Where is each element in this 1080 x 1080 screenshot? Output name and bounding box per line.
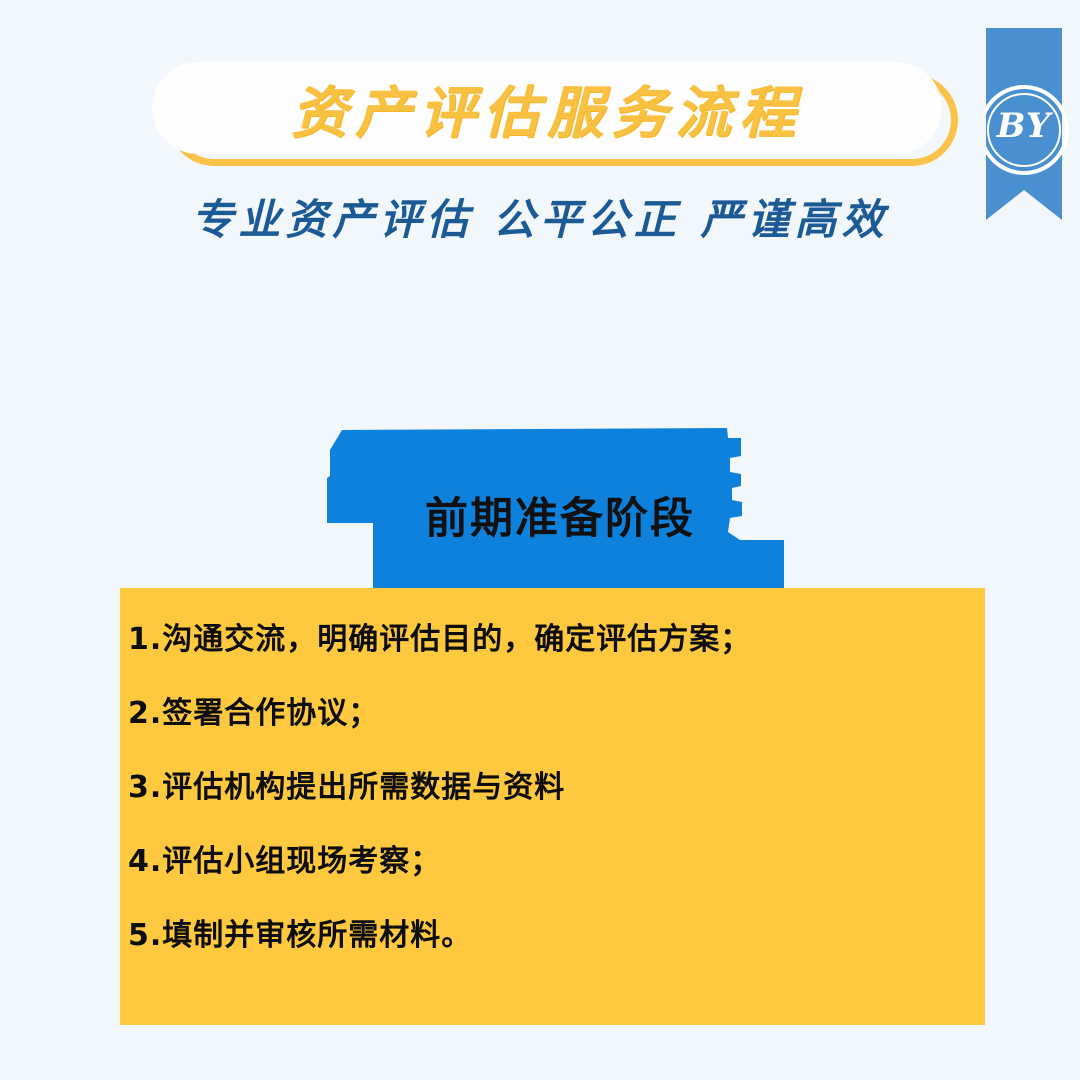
page-subtitle: 专业资产评估 公平公正 严谨高效 — [0, 186, 1080, 247]
list-item: 2.签署合作协议； — [128, 696, 957, 732]
stage-banner — [300, 420, 820, 595]
list-item: 4.评估小组现场考察； — [128, 844, 957, 880]
steps-panel: 1.沟通交流，明确评估目的，确定评估方案； 2.签署合作协议； 3.评估机构提出… — [120, 588, 985, 1025]
page-title: 资产评估服务流程 — [152, 62, 942, 154]
stage-banner-shape — [300, 420, 820, 595]
header-section: 资产评估服务流程 专业资产评估 公平公正 严谨高效 — [0, 0, 1080, 270]
ribbon-badge: BY — [986, 28, 1080, 224]
list-item: 3.评估机构提出所需数据与资料 — [128, 770, 957, 806]
list-item: 5.填制并审核所需材料。 — [128, 918, 957, 954]
steps-list: 1.沟通交流，明确评估目的，确定评估方案； 2.签署合作协议； 3.评估机构提出… — [128, 622, 957, 954]
list-item: 1.沟通交流，明确评估目的，确定评估方案； — [128, 622, 957, 658]
poster-canvas: 资产评估服务流程 专业资产评估 公平公正 严谨高效 BY 前期准备阶段 1.沟通… — [0, 0, 1080, 1080]
ribbon-badge-icon — [986, 28, 1080, 224]
